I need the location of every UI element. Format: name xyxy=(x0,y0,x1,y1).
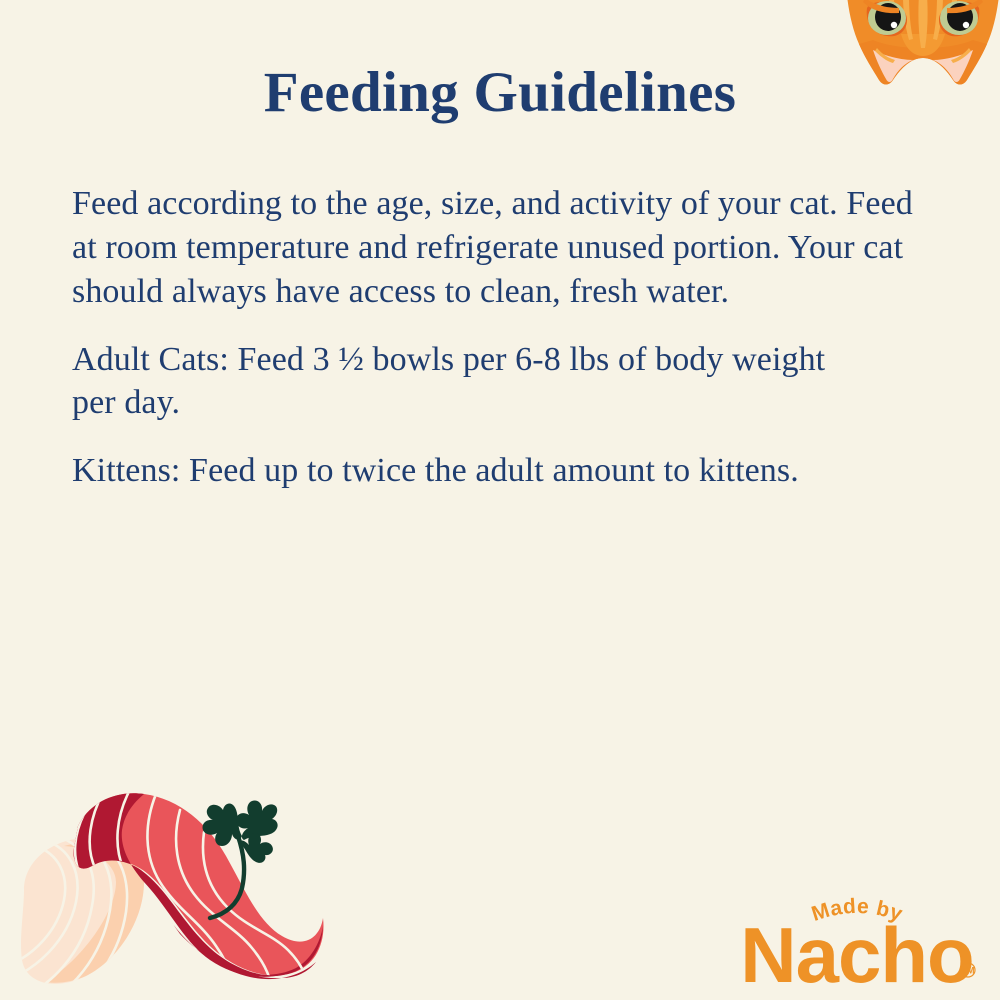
pale-fillet-marbling xyxy=(20,836,127,1000)
cat-brow-left xyxy=(863,0,899,13)
parsley-stem xyxy=(210,836,244,918)
logo-trademark: TM xyxy=(961,963,975,977)
pale-fillet-body xyxy=(21,838,144,984)
brand-logo: Made by Nacho TM xyxy=(732,892,982,988)
pale-fillet-shadow xyxy=(46,843,144,983)
cat-eye-highlight-right xyxy=(963,22,969,28)
red-fillet-body xyxy=(74,793,324,975)
feeding-guidelines-card: Feeding Guidelines Feed according to the… xyxy=(0,0,1000,1000)
red-fillet-bottom-shadow xyxy=(170,920,316,979)
paragraph-adult-cats: Adult Cats: Feed 3 ½ bowls per 6-8 lbs o… xyxy=(72,338,872,426)
salmon-illustration xyxy=(20,770,350,1000)
red-fillet-underside xyxy=(146,878,323,976)
paragraph-kittens: Kittens: Feed up to twice the adult amou… xyxy=(72,449,952,493)
cat-muzzle xyxy=(901,34,945,56)
cat-brow-right xyxy=(947,0,983,13)
cat-eye-pupil-right xyxy=(947,3,973,31)
cat-cheek-tufts xyxy=(875,48,971,63)
cat-forehead-stripes xyxy=(889,0,957,48)
parsley-leaf-center xyxy=(239,833,273,863)
parsley-leaf-right xyxy=(236,801,278,840)
cat-eye-socket-right xyxy=(939,2,979,36)
logo-brand-text: Nacho xyxy=(740,911,973,988)
cat-eye-iris-left xyxy=(868,1,906,35)
red-fillet-marbling xyxy=(75,786,308,1000)
cat-eye-highlight-left xyxy=(891,22,897,28)
logo-made-by-text: Made by xyxy=(809,895,906,926)
parsley-garnish xyxy=(203,801,278,918)
cat-eye-iris-right xyxy=(940,1,978,35)
parsley-leaf-left xyxy=(203,803,242,846)
cat-eye-pupil-left xyxy=(875,3,901,31)
paragraph-general-instructions: Feed according to the age, size, and act… xyxy=(72,182,932,314)
cat-eye-socket-left xyxy=(867,2,907,36)
salmon-red-fillet xyxy=(74,786,324,1000)
red-fillet-cut-face xyxy=(74,793,296,977)
svg-text:TM: TM xyxy=(962,966,975,976)
feeding-instructions: Feed according to the age, size, and act… xyxy=(72,182,944,493)
salmon-pale-fillet xyxy=(20,836,144,1000)
page-title: Feeding Guidelines xyxy=(0,62,1000,125)
